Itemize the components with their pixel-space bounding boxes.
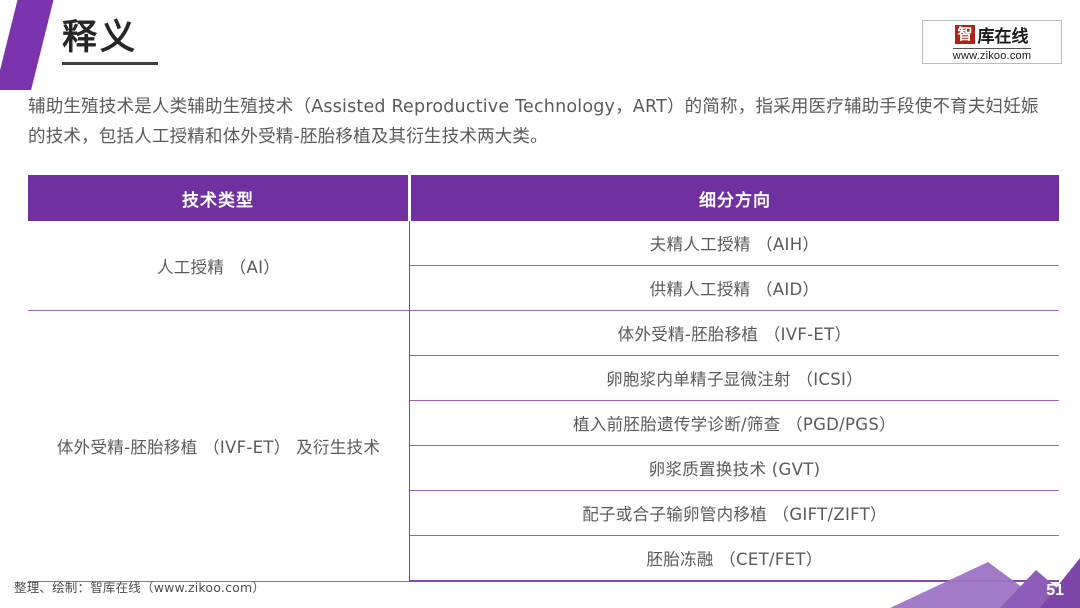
column-header-technology-type: 技术类型: [28, 175, 410, 221]
subdivision-cell: 植入前胚胎遗传学诊断/筛查 （PGD/PGS）: [410, 401, 1060, 446]
page-number: 51: [1046, 582, 1064, 600]
title-underline: [62, 62, 158, 65]
table-row: 体外受精-胚胎移植 （IVF-ET） 及衍生技术 体外受精-胚胎移植 （IVF-…: [28, 311, 1059, 356]
page-title: 释义: [62, 16, 158, 60]
subdivision-cell: 配子或合子输卵管内移植 （GIFT/ZIFT）: [410, 491, 1060, 536]
table-row: 人工授精 （AI） 夫精人工授精 （AIH）: [28, 221, 1059, 266]
art-table-container: 技术类型 细分方向 人工授精 （AI） 夫精人工授精 （AIH） 供精人工授精 …: [28, 175, 1052, 582]
subdivision-cell: 胚胎冻融 （CET/FET）: [410, 536, 1060, 582]
category-cell-ai: 人工授精 （AI）: [28, 221, 410, 311]
footer-credit: 整理、绘制：智库在线（www.zikoo.com）: [14, 577, 265, 596]
subdivision-cell: 体外受精-胚胎移植 （IVF-ET）: [410, 311, 1060, 356]
subdivision-cell: 夫精人工授精 （AIH）: [410, 221, 1060, 266]
slide-header: 释义 智 库在线 www.zikoo.com: [0, 0, 1080, 88]
title-block: 释义: [62, 16, 158, 65]
subdivision-cell: 卵浆质置换技术 (GVT): [410, 446, 1060, 491]
logo-url: www.zikoo.com: [953, 48, 1031, 62]
brand-logo: 智 库在线 www.zikoo.com: [922, 20, 1062, 64]
subdivision-cell: 供精人工授精 （AID）: [410, 266, 1060, 311]
column-header-subdivision: 细分方向: [410, 175, 1060, 221]
subdivision-cell: 卵胞浆内单精子显微注射 （ICSI）: [410, 356, 1060, 401]
intro-paragraph: 辅助生殖技术是人类辅助生殖技术（Assisted Reproductive Te…: [28, 92, 1054, 152]
art-classification-table: 技术类型 细分方向 人工授精 （AI） 夫精人工授精 （AIH） 供精人工授精 …: [28, 175, 1059, 582]
logo-mark-icon: 智: [955, 25, 974, 44]
category-cell-ivf: 体外受精-胚胎移植 （IVF-ET） 及衍生技术: [28, 311, 410, 582]
table-head: 技术类型 细分方向: [28, 175, 1059, 221]
logo-brand-name: 库在线: [978, 22, 1029, 47]
table-header-row: 技术类型 细分方向: [28, 175, 1059, 221]
table-body: 人工授精 （AI） 夫精人工授精 （AIH） 供精人工授精 （AID） 体外受精…: [28, 221, 1059, 581]
logo-wordmark: 智 库在线: [955, 22, 1028, 47]
title-accent-bar: [0, 0, 54, 90]
